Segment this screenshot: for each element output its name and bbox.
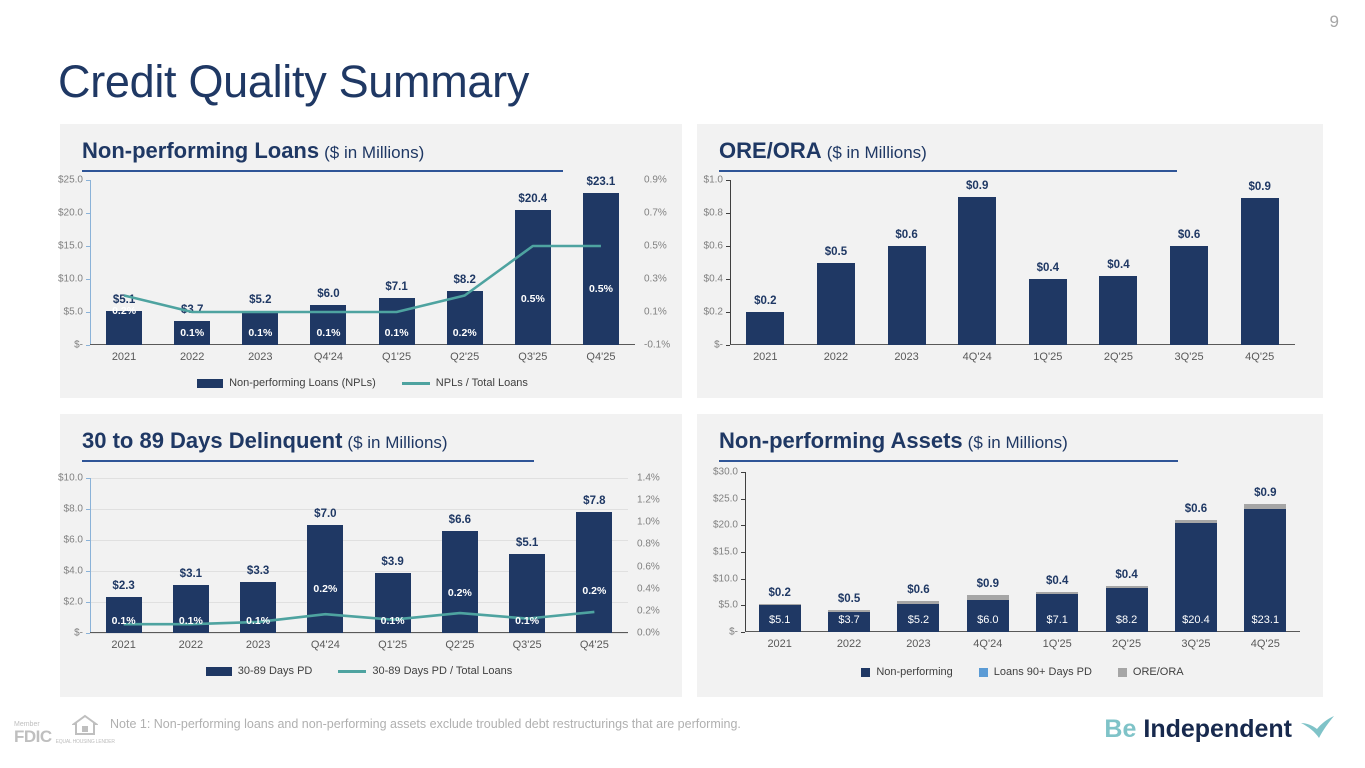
chart-subtitle-del: ($ in Millions) — [347, 433, 447, 453]
house-icon — [56, 714, 115, 740]
chart-legend: Non-performingLoans 90+ Days PDORE/ORA — [745, 666, 1300, 678]
bar-value-label-inside: $5.1 — [769, 614, 790, 626]
title-rule-ore — [719, 170, 1177, 172]
bars-container: $2.3$3.1$3.3$7.0$3.9$6.6$5.1$7.8 — [90, 478, 628, 633]
bar-value-label: $0.9 — [977, 578, 999, 590]
line-value-label: 0.1% — [112, 615, 136, 627]
equal-housing-label: EQUAL HOUSING LENDER — [56, 740, 115, 745]
bar-group: $0.9 — [942, 180, 1013, 345]
x-axis-tick-label: 2023 — [226, 351, 294, 363]
title-rule-npl — [82, 170, 563, 172]
y2-axis-tick-label: 1.0% — [637, 517, 660, 528]
y-axis-tick-label: $10.0 — [713, 573, 738, 584]
bar-segment[interactable] — [442, 531, 478, 633]
bar-value-label: $0.6 — [1178, 229, 1200, 241]
y2-axis-tick-label: 1.4% — [637, 473, 660, 484]
bar-segment[interactable] — [817, 263, 855, 346]
bar-segment[interactable] — [583, 193, 619, 345]
y-axis-tick-label: $4.0 — [64, 566, 83, 577]
chart-legend: 30-89 Days PD30-89 Days PD / Total Loans — [90, 665, 628, 677]
line-value-label: 0.2% — [313, 583, 337, 595]
bar-group: $3.7 — [158, 180, 226, 345]
plot-area-npl: $25.0$20.0$15.0$10.0$5.0$-0.9%0.7%0.5%0.… — [90, 180, 635, 345]
x-axis-tick-label: Q2'25 — [431, 351, 499, 363]
bar-group: $5.2 — [226, 180, 294, 345]
bar-value-label: $6.6 — [449, 514, 471, 526]
bar-value-label: $0.5 — [838, 593, 860, 605]
bar-segment[interactable] — [1241, 198, 1279, 345]
bar-value-label-inside: $7.1 — [1046, 614, 1067, 626]
bar-segment[interactable] — [828, 610, 870, 613]
x-axis-tick-label: 2023 — [871, 351, 942, 363]
bars-container: $5.1$0.2$3.7$0.5$5.2$0.6$6.0$0.9$7.1$0.4… — [745, 472, 1300, 632]
x-axis-tick-label: Q3'25 — [499, 351, 567, 363]
bar-segment[interactable] — [307, 525, 343, 634]
x-axis-tick-label: Q4'25 — [561, 639, 628, 651]
y-axis-tick-label: $10.0 — [58, 473, 83, 484]
x-axis-tick-label: 4Q'24 — [942, 351, 1013, 363]
bar-value-label-inside: $20.4 — [1182, 614, 1210, 626]
legend-color-swatch — [197, 379, 223, 388]
line-value-label: 0.1% — [515, 615, 539, 627]
x-axis-labels: 202120222023Q4'24Q1'25Q2'25Q3'25Q4'25 — [90, 639, 628, 651]
footnote: Note 1: Non-performing loans and non-per… — [110, 717, 741, 731]
line-value-label: 0.1% — [248, 327, 272, 339]
bar-value-label: $0.9 — [966, 180, 988, 192]
bar-segment[interactable] — [967, 595, 1009, 600]
x-axis-tick-label: 2022 — [158, 351, 226, 363]
bar-segment[interactable] — [746, 312, 784, 345]
chart-title-ore: ORE/ORA — [719, 138, 822, 164]
bar-segment[interactable] — [1175, 520, 1217, 523]
bars-container: $0.2$0.5$0.6$0.9$0.4$0.4$0.6$0.9 — [730, 180, 1295, 345]
bar-value-label: $2.3 — [112, 580, 134, 592]
x-axis-labels: 2021202220234Q'241Q'252Q'253Q'254Q'25 — [745, 638, 1300, 650]
bar-value-label: $0.4 — [1115, 569, 1137, 581]
x-axis-tick-label: 1Q'25 — [1013, 351, 1084, 363]
x-axis-tick-label: 2021 — [90, 639, 157, 651]
title-rule-npa — [719, 460, 1178, 462]
y2-axis-tick-label: -0.1% — [644, 340, 670, 351]
y-axis-tick-label: $- — [74, 340, 83, 351]
legend-item[interactable]: 30-89 Days PD — [206, 665, 313, 677]
bar-segment[interactable] — [1244, 504, 1286, 509]
y-axis-tick-label: $5.0 — [719, 600, 738, 611]
bar-group: $3.7$0.5 — [814, 472, 883, 632]
bar-value-label: $20.4 — [518, 193, 547, 205]
bar-segment[interactable] — [897, 601, 939, 604]
bar-group: $3.3 — [225, 478, 292, 633]
bar-segment[interactable] — [515, 210, 551, 345]
bar-segment[interactable] — [1170, 246, 1208, 345]
chart-subtitle-npl: ($ in Millions) — [324, 143, 424, 163]
bar-value-label: $3.3 — [247, 565, 269, 577]
x-axis-tick-label: Q3'25 — [494, 639, 561, 651]
gridline — [90, 633, 628, 634]
bar-value-label-inside: $8.2 — [1116, 614, 1137, 626]
y2-axis-tick-label: 0.6% — [637, 561, 660, 572]
bar-value-label: $0.2 — [754, 295, 776, 307]
x-axis-tick-label: 2022 — [801, 351, 872, 363]
chart-subtitle-npa: ($ in Millions) — [968, 433, 1068, 453]
y2-axis-tick-label: 0.5% — [644, 241, 667, 252]
y-axis-tick-label: $10.0 — [58, 274, 83, 285]
bar-value-label: $7.0 — [314, 508, 336, 520]
bar-segment[interactable] — [310, 305, 346, 345]
x-axis-tick-label: Q4'24 — [294, 351, 362, 363]
bar-segment[interactable] — [958, 197, 996, 346]
y-axis-tick-label: $- — [714, 340, 723, 351]
chart-legend: Non-performing Loans (NPLs)NPLs / Total … — [90, 377, 635, 389]
bar-segment[interactable] — [576, 512, 612, 633]
y-axis-tick-label: $20.0 — [713, 520, 738, 531]
x-axis-tick-label: 4Q'25 — [1231, 638, 1300, 650]
legend-item[interactable]: NPLs / Total Loans — [402, 377, 528, 389]
bar-segment[interactable] — [1029, 279, 1067, 345]
legend-label: 30-89 Days PD / Total Loans — [372, 665, 512, 677]
bar-value-label-inside: $3.7 — [838, 614, 859, 626]
plot-area-del: $10.0$8.0$6.0$4.0$2.0$-1.4%1.2%1.0%0.8%0… — [90, 478, 628, 633]
x-axis-tick-label: Q4'24 — [292, 639, 359, 651]
brand-be-label: Be — [1104, 715, 1136, 744]
chart-title-npl: Non-performing Loans — [82, 138, 319, 164]
bar-group: $5.1$0.2 — [745, 472, 814, 632]
bar-value-label: $5.2 — [249, 294, 271, 306]
bar-segment[interactable] — [1106, 586, 1148, 588]
bar-value-label: $3.9 — [381, 556, 403, 568]
bar-group: $20.4$0.6 — [1161, 472, 1230, 632]
y-axis-tick-label: $- — [74, 628, 83, 639]
y-axis-tick-label: $1.0 — [704, 175, 723, 186]
bar-group: $0.2 — [730, 180, 801, 345]
x-axis-tick-label: 4Q'24 — [953, 638, 1022, 650]
legend-item[interactable]: 30-89 Days PD / Total Loans — [338, 665, 512, 677]
bar-value-label: $5.1 — [516, 537, 538, 549]
bar-value-label: $3.7 — [181, 304, 203, 316]
x-axis-tick-label: 2Q'25 — [1092, 638, 1161, 650]
bar-group: $0.6 — [871, 180, 942, 345]
line-value-label: 0.1% — [180, 327, 204, 339]
plot-area-npa: $30.0$25.0$20.0$15.0$10.0$5.0$-$5.1$0.2$… — [745, 472, 1300, 632]
legend-item[interactable]: Loans 90+ Days PD — [979, 666, 1092, 678]
legend-label: Non-performing — [876, 666, 952, 678]
y-axis-tick-label: $- — [729, 627, 738, 638]
y-axis-tickmark — [741, 632, 745, 633]
bar-value-label-inside: $6.0 — [977, 614, 998, 626]
equal-housing-lender-icon: EQUAL HOUSING LENDER — [56, 714, 115, 745]
bar-value-label: $0.6 — [1185, 503, 1207, 515]
fdic-name-label: FDIC — [14, 728, 52, 745]
legend-line-swatch — [402, 382, 430, 385]
y-axis-tick-label: $15.0 — [713, 547, 738, 558]
bar-group: $0.5 — [801, 180, 872, 345]
y-axis-tick-label: $0.2 — [704, 307, 723, 318]
x-axis-tick-label: 2021 — [90, 351, 158, 363]
y-axis-tick-label: $0.4 — [704, 274, 723, 285]
x-axis-tick-label: 4Q'25 — [1224, 351, 1295, 363]
line-value-label: 0.2% — [112, 305, 136, 317]
y-axis-tick-label: $0.8 — [704, 208, 723, 219]
title-rule-del — [82, 460, 534, 462]
bar-value-label: $6.0 — [317, 288, 339, 300]
bar-group: $23.1$0.9 — [1231, 472, 1300, 632]
chart-title-del: 30 to 89 Days Delinquent — [82, 428, 342, 454]
legend-color-swatch — [1118, 668, 1127, 677]
y2-axis-tick-label: 0.0% — [637, 628, 660, 639]
legend-label: NPLs / Total Loans — [436, 377, 528, 389]
brand-independent-label: Independent — [1143, 715, 1292, 744]
line-value-label: 0.1% — [246, 615, 270, 627]
x-axis-tick-label: 2023 — [225, 639, 292, 651]
y2-axis-tick-label: 0.8% — [637, 539, 660, 550]
bar-value-label: $7.8 — [583, 495, 605, 507]
x-axis-tick-label: 3Q'25 — [1161, 638, 1230, 650]
legend-line-swatch — [338, 670, 366, 673]
line-value-label: 0.5% — [521, 293, 545, 305]
bar-group: $7.1 — [363, 180, 431, 345]
y-axis-tick-label: $15.0 — [58, 241, 83, 252]
x-axis-tick-label: Q1'25 — [359, 639, 426, 651]
x-axis-tick-label: 2022 — [814, 638, 883, 650]
y2-axis-tick-label: 0.1% — [644, 307, 667, 318]
y-axis-tick-label: $20.0 — [58, 208, 83, 219]
x-axis-tick-label: Q4'25 — [567, 351, 635, 363]
bar-value-label: $0.4 — [1107, 259, 1129, 271]
x-axis-tick-label: 1Q'25 — [1023, 638, 1092, 650]
legend-color-swatch — [206, 667, 232, 676]
x-axis-labels: 2021202220234Q'241Q'252Q'253Q'254Q'25 — [730, 351, 1295, 363]
x-axis-tick-label: 2022 — [157, 639, 224, 651]
fdic-text: Member FDIC — [14, 721, 52, 745]
chart-header-npa: Non-performing Assets($ in Millions) — [719, 428, 1301, 454]
chart-subtitle-ore: ($ in Millions) — [827, 143, 927, 163]
y2-axis-tick-label: 0.9% — [644, 175, 667, 186]
bar-value-label: $0.2 — [768, 587, 790, 599]
legend-item[interactable]: ORE/ORA — [1118, 666, 1184, 678]
legend-label: ORE/ORA — [1133, 666, 1184, 678]
bar-group: $23.1 — [567, 180, 635, 345]
x-axis-tick-label: 2023 — [884, 638, 953, 650]
bird-icon — [1299, 714, 1335, 745]
bar-value-label: $0.4 — [1037, 262, 1059, 274]
bar-group: $0.4 — [1013, 180, 1084, 345]
bar-value-label-inside: $23.1 — [1252, 614, 1280, 626]
line-value-label: 0.2% — [582, 585, 606, 597]
bar-group: $0.9 — [1224, 180, 1295, 345]
bar-segment[interactable] — [1099, 276, 1137, 345]
bar-group: $7.1$0.4 — [1023, 472, 1092, 632]
y-axis-tickmark — [86, 345, 90, 346]
bar-group: $8.2$0.4 — [1092, 472, 1161, 632]
line-value-label: 0.2% — [448, 587, 472, 599]
bar-group: $5.1 — [90, 180, 158, 345]
chart-header-ore: ORE/ORA($ in Millions) — [719, 138, 1301, 164]
line-value-label: 0.1% — [179, 615, 203, 627]
y2-axis-tick-label: 0.4% — [637, 583, 660, 594]
y-axis-tick-label: $25.0 — [58, 175, 83, 186]
y-axis-tick-label: $8.0 — [64, 504, 83, 515]
bar-group: $7.0 — [292, 478, 359, 633]
y-axis-tick-label: $2.0 — [64, 597, 83, 608]
page-number: 9 — [1330, 12, 1339, 32]
brand-logo: Be Independent — [1104, 714, 1335, 745]
y2-axis-tick-label: 0.3% — [644, 274, 667, 285]
page-title: Credit Quality Summary — [58, 56, 529, 108]
bar-value-label: $0.9 — [1248, 181, 1270, 193]
plot-area-ore: $1.0$0.8$0.6$0.4$0.2$-$0.2$0.5$0.6$0.9$0… — [730, 180, 1295, 345]
x-axis-tick-label: Q2'25 — [426, 639, 493, 651]
line-value-label: 0.1% — [385, 327, 409, 339]
legend-label: 30-89 Days PD — [238, 665, 313, 677]
chart-header-del: 30 to 89 Days Delinquent($ in Millions) — [82, 428, 660, 454]
bar-value-label: $8.2 — [453, 274, 475, 286]
chart-title-npa: Non-performing Assets — [719, 428, 963, 454]
bar-group: $6.6 — [426, 478, 493, 633]
bar-group: $0.6 — [1154, 180, 1225, 345]
bar-group: $20.4 — [499, 180, 567, 345]
bar-group: $3.9 — [359, 478, 426, 633]
y2-axis-tick-label: 0.2% — [637, 605, 660, 616]
y-axis-tick-label: $30.0 — [713, 467, 738, 478]
bar-segment[interactable] — [1036, 592, 1078, 594]
x-axis-tick-label: Q1'25 — [363, 351, 431, 363]
bar-group: $5.2$0.6 — [884, 472, 953, 632]
line-value-label: 0.5% — [589, 283, 613, 295]
y2-axis-tick-label: 1.2% — [637, 495, 660, 506]
y-axis-tick-label: $5.0 — [64, 307, 83, 318]
slide: 9 Credit Quality Summary Non-performing … — [0, 0, 1365, 768]
y-axis-tick-label: $25.0 — [713, 493, 738, 504]
x-axis-tick-label: 2Q'25 — [1083, 351, 1154, 363]
bar-value-label: $0.9 — [1254, 487, 1276, 499]
x-axis-tick-label: 3Q'25 — [1154, 351, 1225, 363]
y-axis-tickmark — [726, 345, 730, 346]
line-value-label: 0.1% — [316, 327, 340, 339]
x-axis-tick-label: 2021 — [745, 638, 814, 650]
bar-value-label: $0.4 — [1046, 575, 1068, 587]
legend-label: Non-performing Loans (NPLs) — [229, 377, 376, 389]
bar-value-label: $3.1 — [180, 568, 202, 580]
chart-header-npl: Non-performing Loans($ in Millions) — [82, 138, 660, 164]
bar-group: $6.0 — [294, 180, 362, 345]
fdic-logo: Member FDIC EQUAL HOUSING LENDER — [14, 714, 115, 745]
x-axis-tick-label: 2021 — [730, 351, 801, 363]
y-axis-tick-label: $6.0 — [64, 535, 83, 546]
bars-container: $5.1$3.7$5.2$6.0$7.1$8.2$20.4$23.1 — [90, 180, 635, 345]
bar-group: $2.3 — [90, 478, 157, 633]
legend-color-swatch — [979, 668, 988, 677]
legend-item[interactable]: Non-performing — [861, 666, 952, 678]
legend-label: Loans 90+ Days PD — [994, 666, 1092, 678]
bar-value-label: $0.6 — [895, 229, 917, 241]
y-axis-tickmark — [86, 633, 90, 634]
y-axis-tick-label: $0.6 — [704, 241, 723, 252]
bar-group: $7.8 — [561, 478, 628, 633]
bar-value-label: $0.5 — [825, 246, 847, 258]
bar-group: $0.4 — [1083, 180, 1154, 345]
y2-axis-tick-label: 0.7% — [644, 208, 667, 219]
legend-item[interactable]: Non-performing Loans (NPLs) — [197, 377, 376, 389]
line-value-label: 0.1% — [381, 615, 405, 627]
bar-value-label-inside: $5.2 — [908, 614, 929, 626]
bar-group: $6.0$0.9 — [953, 472, 1022, 632]
line-value-label: 0.2% — [453, 327, 477, 339]
bar-group: $3.1 — [157, 478, 224, 633]
bar-segment[interactable] — [888, 246, 926, 345]
bar-group: $5.1 — [494, 478, 561, 633]
bar-value-label: $0.6 — [907, 584, 929, 596]
bar-group: $8.2 — [431, 180, 499, 345]
bar-value-label: $7.1 — [385, 281, 407, 293]
bar-value-label: $23.1 — [587, 176, 616, 188]
legend-color-swatch — [861, 668, 870, 677]
bar-segment[interactable] — [759, 604, 801, 605]
x-axis-labels: 202120222023Q4'24Q1'25Q2'25Q3'25Q4'25 — [90, 351, 635, 363]
